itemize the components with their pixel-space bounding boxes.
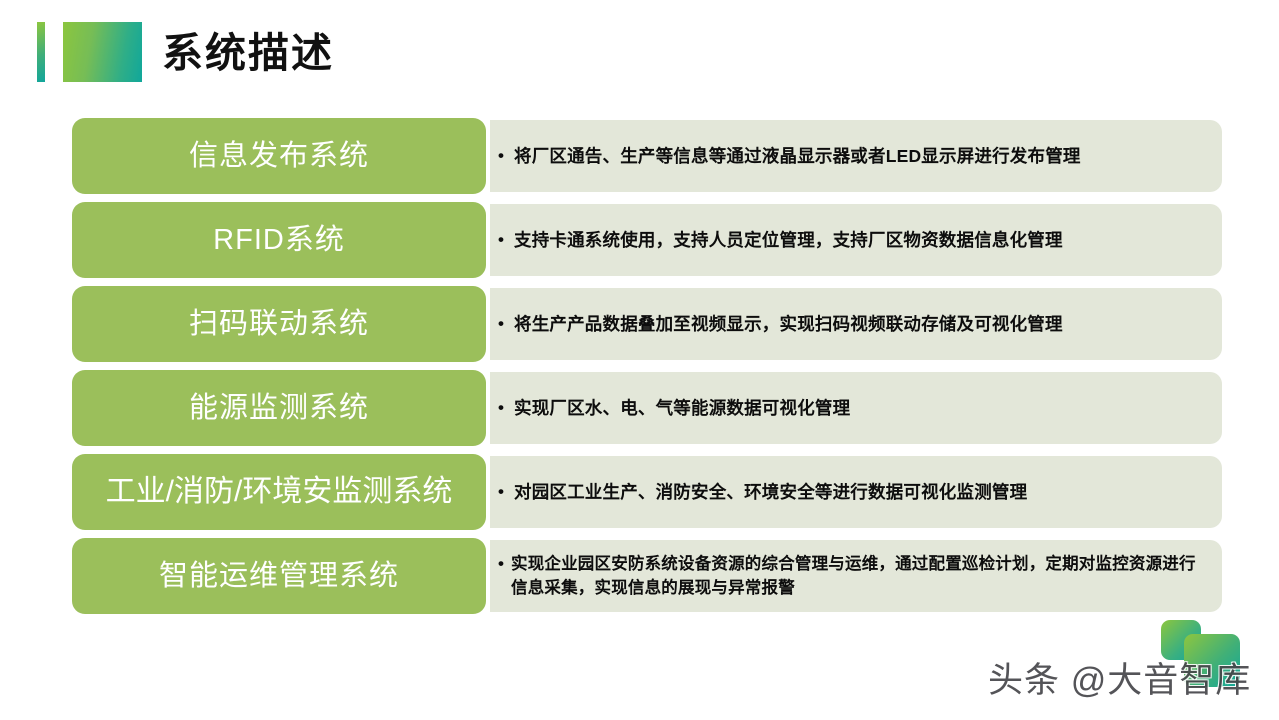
system-name-box[interactable]: 工业/消防/环境安监测系统 — [72, 454, 486, 530]
system-description-panel: 对园区工业生产、消防安全、环境安全等进行数据可视化监测管理 — [490, 456, 1222, 528]
list-item[interactable]: 工业/消防/环境安监测系统 对园区工业生产、消防安全、环境安全等进行数据可视化监… — [72, 454, 1222, 530]
system-name-label: 信息发布系统 — [189, 139, 369, 173]
system-name-label: 智能运维管理系统 — [159, 559, 399, 593]
system-description-panel: 实现厂区水、电、气等能源数据可视化管理 — [490, 372, 1222, 444]
system-description-text: 对园区工业生产、消防安全、环境安全等进行数据可视化监测管理 — [498, 480, 1027, 505]
system-description-panel: 支持卡通系统使用，支持人员定位管理，支持厂区物资数据信息化管理 — [490, 204, 1222, 276]
list-item[interactable]: 智能运维管理系统 实现企业园区安防系统设备资源的综合管理与运维，通过配置巡检计划… — [72, 538, 1222, 614]
system-name-label: 扫码联动系统 — [189, 307, 369, 341]
list-item[interactable]: 能源监测系统 实现厂区水、电、气等能源数据可视化管理 — [72, 370, 1222, 446]
list-item[interactable]: 信息发布系统 将厂区通告、生产等信息等通过液晶显示器或者LED显示屏进行发布管理 — [72, 118, 1222, 194]
system-description-panel: 将厂区通告、生产等信息等通过液晶显示器或者LED显示屏进行发布管理 — [490, 120, 1222, 192]
system-name-box[interactable]: RFID系统 — [72, 202, 486, 278]
system-description-text: 实现厂区水、电、气等能源数据可视化管理 — [498, 396, 850, 421]
system-name-box[interactable]: 智能运维管理系统 — [72, 538, 486, 614]
system-name-label: 能源监测系统 — [189, 391, 369, 425]
system-name-label: RFID系统 — [213, 223, 345, 257]
system-description-text: 支持卡通系统使用，支持人员定位管理，支持厂区物资数据信息化管理 — [498, 228, 1063, 253]
header-accent-block-icon — [63, 22, 142, 82]
system-description-text: 将厂区通告、生产等信息等通过液晶显示器或者LED显示屏进行发布管理 — [498, 144, 1081, 169]
watermark-square-small-icon — [1161, 620, 1201, 660]
system-name-box[interactable]: 能源监测系统 — [72, 370, 486, 446]
system-name-box[interactable]: 扫码联动系统 — [72, 286, 486, 362]
system-name-box[interactable]: 信息发布系统 — [72, 118, 486, 194]
page-title: 系统描述 — [162, 25, 334, 81]
list-item[interactable]: 扫码联动系统 将生产产品数据叠加至视频显示，实现扫码视频联动存储及可视化管理 — [72, 286, 1222, 362]
header-accent-bar-icon — [37, 22, 45, 82]
system-description-text: 实现企业园区安防系统设备资源的综合管理与运维，通过配置巡检计划，定期对监控资源进… — [498, 552, 1208, 600]
system-list: 信息发布系统 将厂区通告、生产等信息等通过液晶显示器或者LED显示屏进行发布管理… — [72, 118, 1222, 622]
slide-header: 系统描述 — [0, 0, 1279, 104]
system-description-panel: 实现企业园区安防系统设备资源的综合管理与运维，通过配置巡检计划，定期对监控资源进… — [490, 540, 1222, 612]
list-item[interactable]: RFID系统 支持卡通系统使用，支持人员定位管理，支持厂区物资数据信息化管理 — [72, 202, 1222, 278]
system-description-text: 将生产产品数据叠加至视频显示，实现扫码视频联动存储及可视化管理 — [498, 312, 1063, 337]
watermark-label: 头条 @大音智库 — [988, 657, 1251, 705]
system-name-label: 工业/消防/环境安监测系统 — [106, 475, 453, 509]
system-description-panel: 将生产产品数据叠加至视频显示，实现扫码视频联动存储及可视化管理 — [490, 288, 1222, 360]
